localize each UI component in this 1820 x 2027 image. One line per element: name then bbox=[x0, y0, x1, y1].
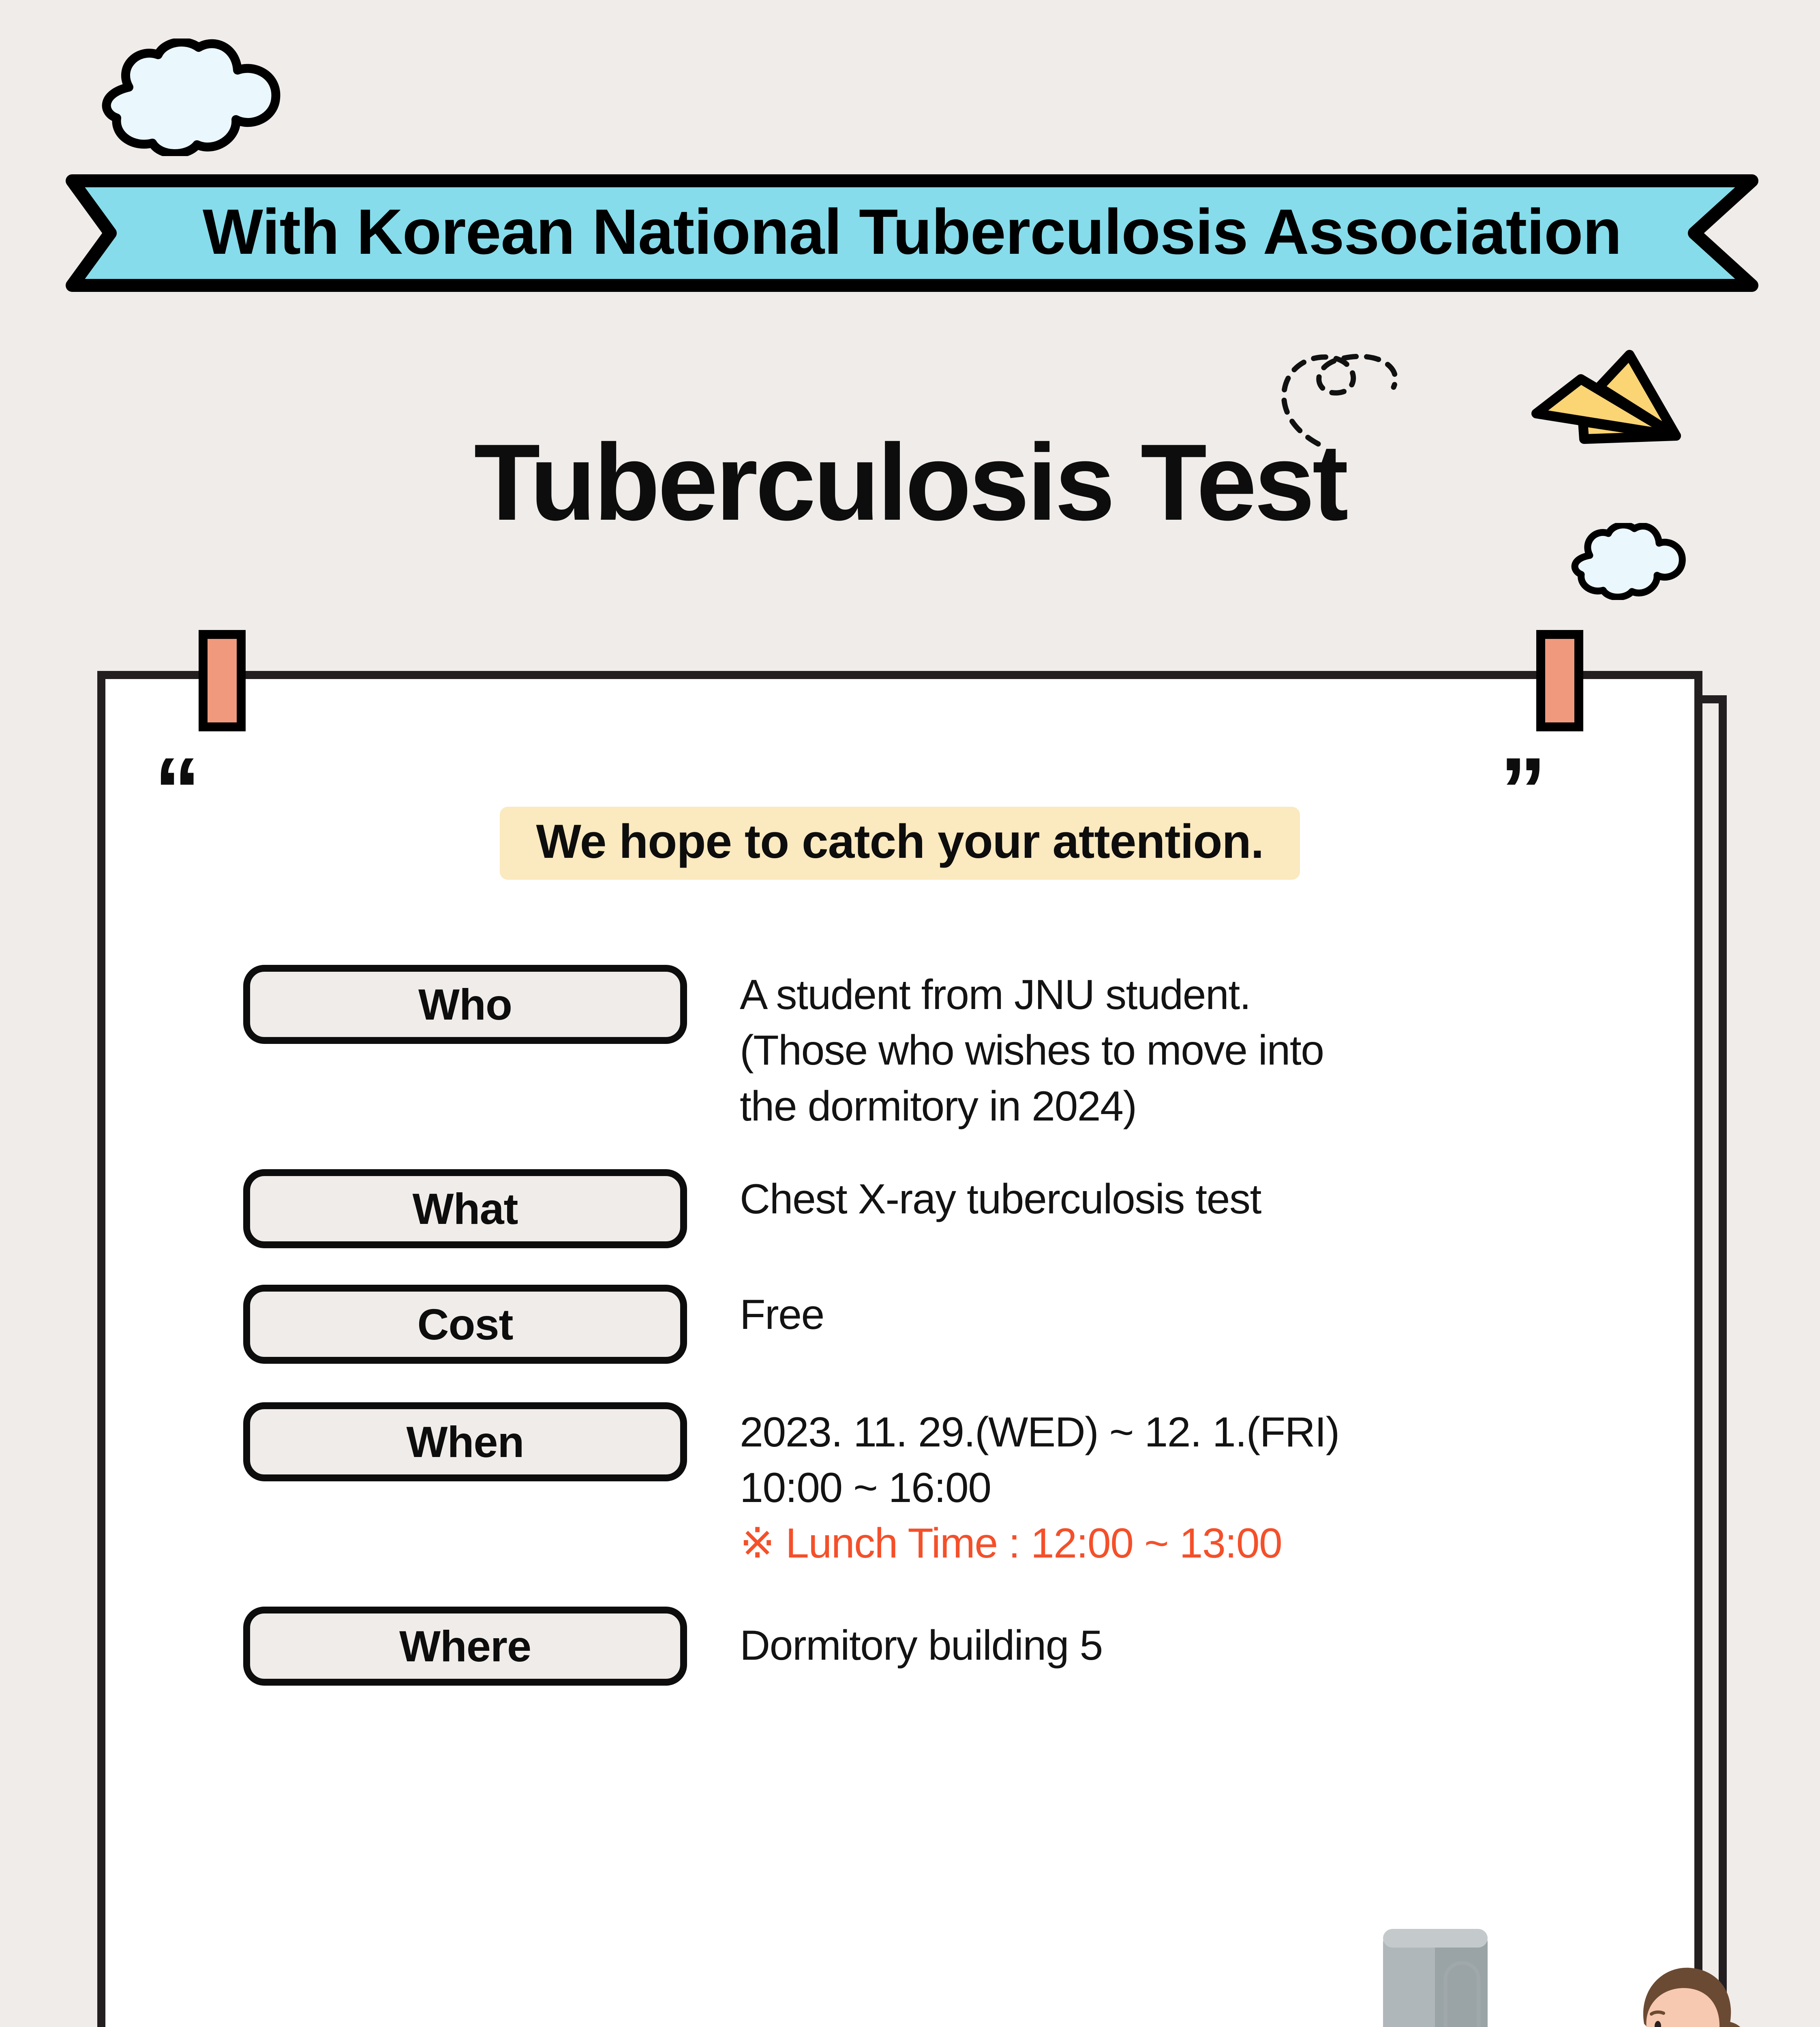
banner-text: With Korean National Tuberculosis Associ… bbox=[65, 174, 1759, 292]
info-value-line: Free bbox=[740, 1287, 824, 1343]
info-label-who: Who bbox=[243, 965, 687, 1044]
subtitle-container: We hope to catch your attention. bbox=[105, 807, 1694, 880]
info-value-where: Dormitory building 5 bbox=[740, 1607, 1103, 1673]
info-value-note: ※ Lunch Time : 12:00 ~ 13:00 bbox=[740, 1516, 1339, 1571]
info-value-line: Dormitory building 5 bbox=[740, 1618, 1103, 1673]
banner-ribbon: With Korean National Tuberculosis Associ… bbox=[65, 174, 1759, 292]
info-row-cost: Cost Free bbox=[243, 1285, 1621, 1364]
machine-column-icon bbox=[1383, 1929, 1488, 2027]
info-value-line: A student from JNU student. (Those who w… bbox=[740, 967, 1324, 1134]
xray-machine-patient-illustration bbox=[1317, 1869, 1771, 2027]
info-value-cost: Free bbox=[740, 1285, 824, 1343]
info-row-when: When 2023. 11. 29.(WED) ~ 12. 1.(FRI) 10… bbox=[243, 1402, 1621, 1572]
info-row-what: What Chest X-ray tuberculosis test bbox=[243, 1169, 1621, 1248]
info-row-where: Where Dormitory building 5 bbox=[243, 1607, 1621, 1686]
info-value-line: 2023. 11. 29.(WED) ~ 12. 1.(FRI) 10:00 ~… bbox=[740, 1405, 1339, 1516]
info-label-what: What bbox=[243, 1169, 687, 1248]
patient-figure-icon bbox=[1610, 1968, 1767, 2027]
info-value-when: 2023. 11. 29.(WED) ~ 12. 1.(FRI) 10:00 ~… bbox=[740, 1402, 1339, 1572]
dashed-flight-path-icon bbox=[1284, 356, 1395, 444]
subtitle-text: We hope to catch your attention. bbox=[536, 814, 1264, 869]
tape-clip-icon bbox=[1536, 630, 1583, 731]
cloud-icon bbox=[81, 39, 284, 156]
tape-clip-icon bbox=[199, 630, 246, 731]
info-label-where: Where bbox=[243, 1607, 687, 1686]
info-row-who: Who A student from JNU student. (Those w… bbox=[243, 965, 1621, 1134]
info-label-cost: Cost bbox=[243, 1285, 687, 1364]
info-value-who: A student from JNU student. (Those who w… bbox=[740, 965, 1324, 1134]
subtitle-highlight: We hope to catch your attention. bbox=[500, 807, 1300, 880]
info-rows-list: Who A student from JNU student. (Those w… bbox=[243, 965, 1621, 1686]
info-value-line: Chest X-ray tuberculosis test bbox=[740, 1172, 1261, 1227]
paper-plane-icon bbox=[1257, 343, 1707, 480]
info-label-when: When bbox=[243, 1402, 687, 1481]
info-value-what: Chest X-ray tuberculosis test bbox=[740, 1169, 1261, 1227]
